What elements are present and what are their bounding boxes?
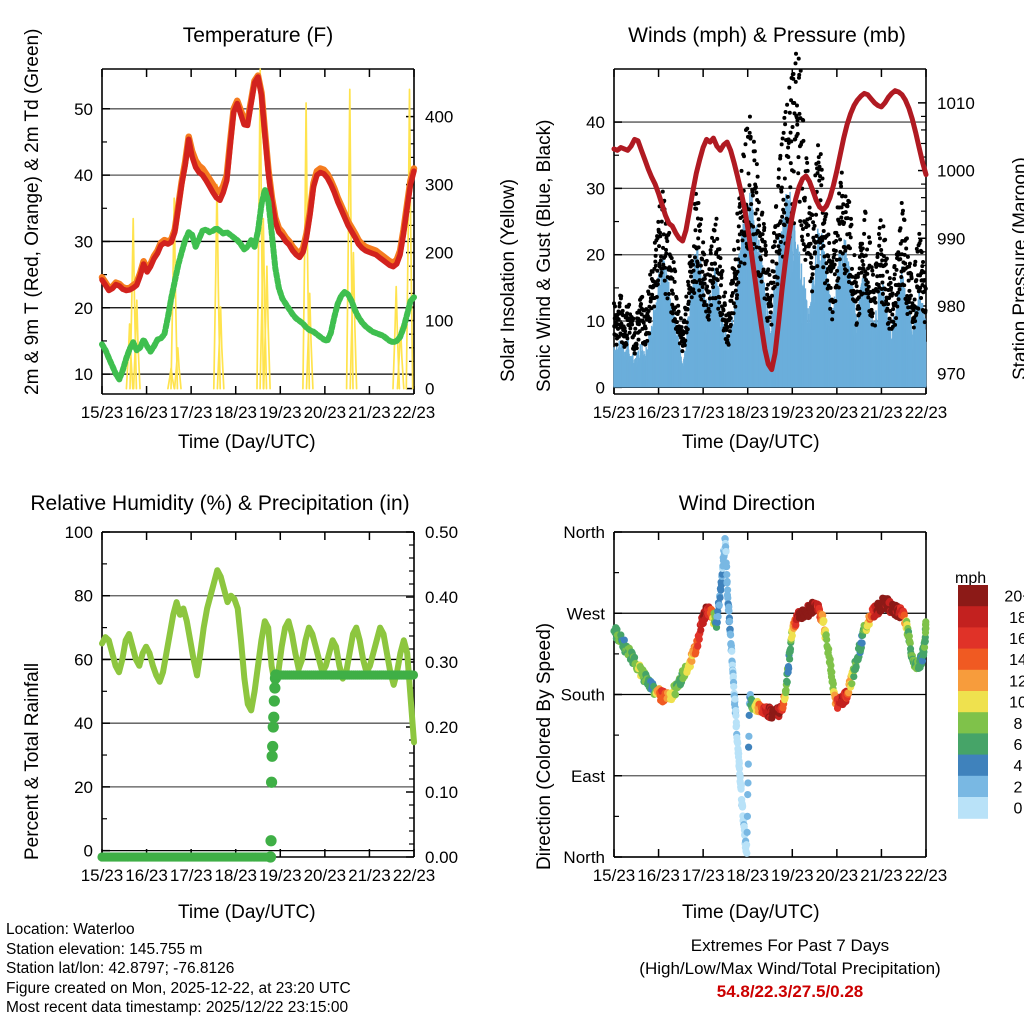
svg-text:0.30: 0.30 xyxy=(425,653,458,672)
svg-text:20/23: 20/23 xyxy=(304,866,347,885)
svg-text:17/23: 17/23 xyxy=(170,866,213,885)
svg-text:980: 980 xyxy=(937,297,965,316)
svg-text:17/23: 17/23 xyxy=(682,866,725,885)
temperature-y-axis-label: 2m & 9m T (Red, Orange) & 2m Td (Green) xyxy=(22,29,44,395)
svg-text:990: 990 xyxy=(937,229,965,248)
svg-text:1000: 1000 xyxy=(937,162,975,181)
metadata-timestamp: Most recent data timestamp: 2025/12/22 2… xyxy=(6,998,351,1018)
svg-text:6: 6 xyxy=(1014,737,1023,754)
svg-text:19/23: 19/23 xyxy=(259,403,302,422)
svg-text:15/23: 15/23 xyxy=(81,403,124,422)
svg-text:East: East xyxy=(571,767,605,786)
svg-text:20/23: 20/23 xyxy=(816,866,859,885)
wind-speed-colorbar: 20+181614121086420 xyxy=(958,585,1024,845)
temperature-panel: Temperature (F) 2m & 9m T (Red, Orange) … xyxy=(0,0,512,470)
svg-text:100: 100 xyxy=(425,312,453,331)
svg-text:50: 50 xyxy=(74,100,93,119)
wind-direction-chart: NorthWestSouthEastNorth15/2316/2317/2318… xyxy=(512,470,1024,920)
svg-text:North: North xyxy=(563,523,605,542)
temperature-chart: 1020304050010020030040015/2316/2317/2318… xyxy=(0,0,512,470)
svg-text:400: 400 xyxy=(425,108,453,127)
svg-text:20: 20 xyxy=(74,778,93,797)
svg-text:21/23: 21/23 xyxy=(348,866,391,885)
svg-text:South: South xyxy=(561,686,605,705)
svg-text:16/23: 16/23 xyxy=(637,403,680,422)
humidity-precip-chart: 0204060801000.000.100.200.300.400.5015/2… xyxy=(0,470,512,920)
svg-text:16/23: 16/23 xyxy=(125,403,168,422)
svg-text:22/23: 22/23 xyxy=(905,403,948,422)
wind-direction-panel-title: Wind Direction xyxy=(582,492,912,516)
wind-direction-panel: Wind Direction Direction (Colored By Spe… xyxy=(512,470,1024,920)
svg-text:15/23: 15/23 xyxy=(593,403,636,422)
extremes-heading: Extremes For Past 7 Days xyxy=(600,934,980,957)
metadata-latlon: Station lat/lon: 42.8797; -76.8126 xyxy=(6,959,351,979)
svg-text:2: 2 xyxy=(1014,779,1023,796)
humidity-precip-panel-title: Relative Humidity (%) & Precipitation (i… xyxy=(10,492,430,516)
winds-pressure-chart: 0102030409709809901000101015/2316/2317/2… xyxy=(512,0,1024,470)
svg-text:10: 10 xyxy=(586,312,605,331)
temperature-panel-title: Temperature (F) xyxy=(102,24,414,48)
svg-text:18/23: 18/23 xyxy=(726,403,769,422)
svg-text:19/23: 19/23 xyxy=(771,866,814,885)
svg-text:30: 30 xyxy=(586,179,605,198)
extremes-values: 54.8/22.3/27.5/0.28 xyxy=(600,980,980,1003)
svg-text:40: 40 xyxy=(74,166,93,185)
svg-text:8: 8 xyxy=(1014,716,1023,733)
wind-direction-y-axis-label: Direction (Colored By Speed) xyxy=(534,623,556,870)
svg-text:20+: 20+ xyxy=(1004,589,1024,606)
svg-text:18: 18 xyxy=(1009,610,1024,627)
svg-text:22/23: 22/23 xyxy=(393,866,436,885)
svg-text:20/23: 20/23 xyxy=(304,403,347,422)
svg-text:18/23: 18/23 xyxy=(214,403,257,422)
metadata-location: Location: Waterloo xyxy=(6,920,351,940)
svg-text:0.00: 0.00 xyxy=(425,848,458,867)
svg-text:10: 10 xyxy=(1009,695,1024,712)
svg-text:0.40: 0.40 xyxy=(425,588,458,607)
svg-text:21/23: 21/23 xyxy=(860,866,903,885)
station-pressure-y-axis-label: Station Pressure (Maroon) xyxy=(1010,157,1024,380)
svg-text:0: 0 xyxy=(84,842,93,861)
extremes-subheading: (High/Low/Max Wind/Total Precipitation) xyxy=(600,957,980,980)
winds-pressure-panel-title: Winds (mph) & Pressure (mb) xyxy=(602,24,932,48)
humidity-precip-panel: Relative Humidity (%) & Precipitation (i… xyxy=(0,470,512,920)
percent-rainfall-y-axis-label: Percent & Total Rainfall xyxy=(22,663,44,860)
metadata-elevation: Station elevation: 145.755 m xyxy=(6,940,351,960)
svg-text:19/23: 19/23 xyxy=(771,403,814,422)
svg-text:100: 100 xyxy=(65,523,93,542)
svg-text:970: 970 xyxy=(937,365,965,384)
svg-text:0.10: 0.10 xyxy=(425,783,458,802)
svg-text:22/23: 22/23 xyxy=(905,866,948,885)
svg-text:10: 10 xyxy=(74,365,93,384)
svg-text:0: 0 xyxy=(425,380,434,399)
winds-pressure-panel: Winds (mph) & Pressure (mb) Sonic Wind &… xyxy=(512,0,1024,470)
svg-text:18/23: 18/23 xyxy=(214,866,257,885)
svg-text:20/23: 20/23 xyxy=(816,403,859,422)
temperature-x-axis-label: Time (Day/UTC) xyxy=(178,432,316,454)
winds-x-axis-label: Time (Day/UTC) xyxy=(682,432,820,454)
svg-text:21/23: 21/23 xyxy=(348,403,391,422)
svg-text:200: 200 xyxy=(425,244,453,263)
svg-text:North: North xyxy=(563,848,605,867)
svg-text:12: 12 xyxy=(1009,673,1024,690)
svg-text:40: 40 xyxy=(74,714,93,733)
svg-text:40: 40 xyxy=(586,113,605,132)
svg-text:30: 30 xyxy=(74,232,93,251)
svg-text:16: 16 xyxy=(1009,631,1024,648)
wind-gust-y-axis-label: Sonic Wind & Gust (Blue, Black) xyxy=(534,120,556,392)
svg-text:16/23: 16/23 xyxy=(125,866,168,885)
svg-text:17/23: 17/23 xyxy=(170,403,213,422)
svg-text:60: 60 xyxy=(74,650,93,669)
svg-text:20: 20 xyxy=(586,246,605,265)
wind-direction-x-axis-label: Time (Day/UTC) xyxy=(682,902,820,924)
svg-text:21/23: 21/23 xyxy=(860,403,903,422)
svg-text:West: West xyxy=(567,604,606,623)
metadata-created: Figure created on Mon, 2025-12-22, at 23… xyxy=(6,979,351,999)
svg-text:15/23: 15/23 xyxy=(81,866,124,885)
svg-text:20: 20 xyxy=(74,299,93,318)
svg-text:16/23: 16/23 xyxy=(637,866,680,885)
svg-text:0.50: 0.50 xyxy=(425,523,458,542)
metadata-block: Location: Waterloo Station elevation: 14… xyxy=(6,920,351,1018)
svg-text:17/23: 17/23 xyxy=(682,403,725,422)
svg-text:4: 4 xyxy=(1014,758,1023,775)
svg-text:14: 14 xyxy=(1009,652,1024,669)
svg-text:19/23: 19/23 xyxy=(259,866,302,885)
svg-text:0.20: 0.20 xyxy=(425,718,458,737)
svg-text:18/23: 18/23 xyxy=(726,866,769,885)
svg-text:0: 0 xyxy=(596,378,605,397)
svg-text:300: 300 xyxy=(425,176,453,195)
svg-text:15/23: 15/23 xyxy=(593,866,636,885)
svg-text:0: 0 xyxy=(1014,801,1023,818)
svg-text:22/23: 22/23 xyxy=(393,403,436,422)
svg-text:1010: 1010 xyxy=(937,94,975,113)
extremes-block: Extremes For Past 7 Days (High/Low/Max W… xyxy=(600,934,980,1003)
svg-text:80: 80 xyxy=(74,587,93,606)
